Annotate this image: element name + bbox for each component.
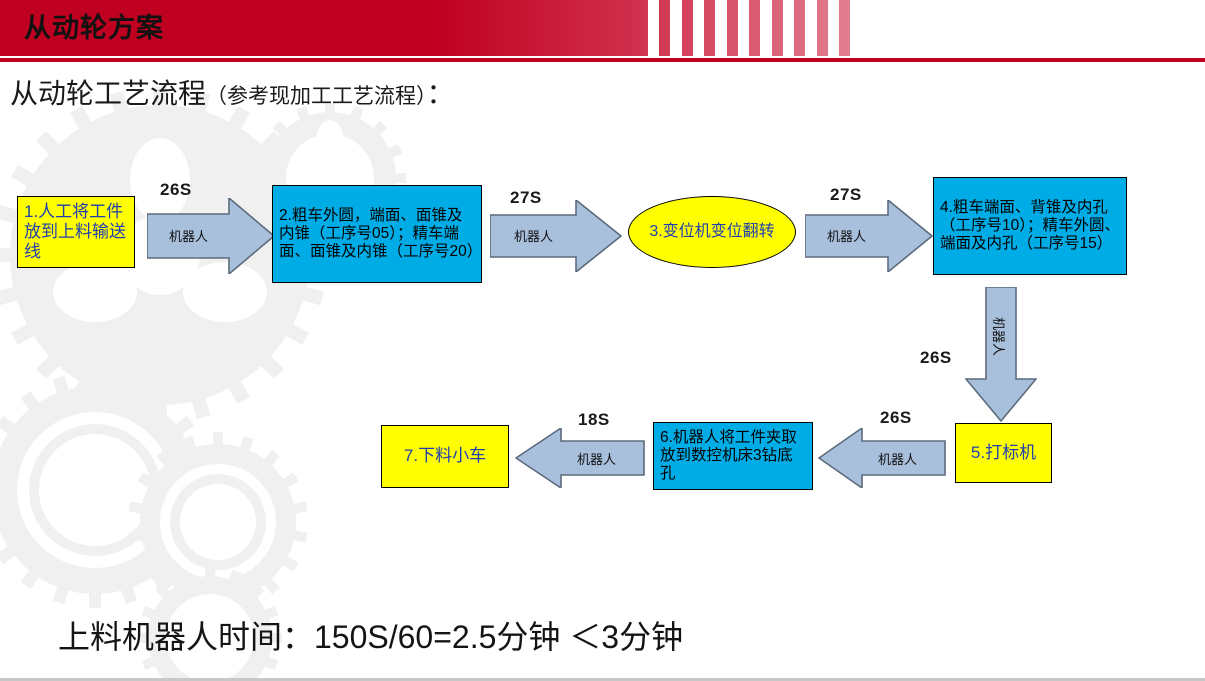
summary-note: 上料机器人时间：150S/60=2.5分钟 ＜3分钟 xyxy=(58,612,683,658)
flow-node-7-label: 7.下料小车 xyxy=(388,446,502,466)
flow-arrow-5-time: 26S xyxy=(880,408,912,428)
header-stripe xyxy=(693,0,704,56)
flow-arrow-2-actor: 机器人 xyxy=(514,226,553,245)
flow-node-3[interactable]: 3.变位机变位翻转 xyxy=(628,196,796,268)
header-stripe xyxy=(738,0,749,56)
section-heading-colon: ： xyxy=(427,78,455,109)
header-stripe-decoration xyxy=(648,0,1205,56)
flow-arrow-4: 机器人 xyxy=(965,287,1037,422)
flow-arrow-6-time: 18S xyxy=(578,410,610,430)
slide-title: 从动轮方案 xyxy=(24,10,164,46)
flow-node-5[interactable]: 5.打标机 xyxy=(955,423,1052,483)
header-stripe xyxy=(783,0,794,56)
header-stripe xyxy=(648,0,659,56)
flow-arrow-3: 机器人 xyxy=(805,200,933,272)
flow-node-1[interactable]: 1.人工将工件放到上料输送线 xyxy=(17,196,135,268)
flow-node-2[interactable]: 2.粗车外圆，端面、面锥及内锥（工序号05）；精车端面、面锥及内锥（工序号20） xyxy=(272,185,482,283)
header-stripe xyxy=(850,0,1205,56)
flow-arrow-3-actor: 机器人 xyxy=(827,226,866,245)
header-underline xyxy=(0,58,1205,62)
flow-node-3-label: 3.变位机变位翻转 xyxy=(649,222,774,241)
flow-arrow-1-time: 26S xyxy=(160,180,192,200)
flow-arrow-6-actor: 机器人 xyxy=(577,449,616,468)
flow-node-7[interactable]: 7.下料小车 xyxy=(381,425,509,488)
section-heading-paren: （参考现加工工艺流程） xyxy=(206,85,427,108)
section-heading-main: 从动轮工艺流程 xyxy=(10,78,206,109)
flow-arrow-6: 机器人 xyxy=(515,428,645,488)
flow-arrow-5-actor: 机器人 xyxy=(878,449,917,468)
flow-node-4[interactable]: 4.粗车端面、背锥及内孔（工序号10）；精车外圆、端面及内孔（工序号15） xyxy=(933,177,1127,275)
flow-arrow-2: 机器人 xyxy=(490,200,622,272)
flow-arrow-2-time: 27S xyxy=(510,188,542,208)
flow-node-4-label: 4.粗车端面、背锥及内孔（工序号10）；精车外圆、端面及内孔（工序号15） xyxy=(940,199,1120,254)
flow-arrow-4-actor: 机器人 xyxy=(990,317,1009,356)
flow-node-6-label: 6.机器人将工件夹取放到数控机床3钻底孔 xyxy=(660,429,806,484)
section-heading: 从动轮工艺流程（参考现加工工艺流程）： xyxy=(10,72,455,112)
flow-arrow-3-time: 27S xyxy=(830,185,862,205)
header-stripe xyxy=(805,0,816,56)
flow-arrow-4-time: 26S xyxy=(920,348,952,368)
header-stripe xyxy=(828,0,839,56)
flow-arrow-5: 机器人 xyxy=(818,428,946,488)
flow-node-2-label: 2.粗车外圆，端面、面锥及内锥（工序号05）；精车端面、面锥及内锥（工序号20） xyxy=(279,207,475,262)
flow-arrow-1: 机器人 xyxy=(147,198,275,274)
flow-node-1-label: 1.人工将工件放到上料输送线 xyxy=(24,202,128,262)
slide-canvas: 从动轮方案 从动轮工艺流程（参考现加工工艺流程）： 1.人工将工件放到上料输送线… xyxy=(0,0,1205,681)
header-stripe xyxy=(715,0,726,56)
header-stripe xyxy=(670,0,681,56)
header-stripe xyxy=(760,0,771,56)
flow-arrow-1-actor: 机器人 xyxy=(169,226,208,245)
flow-node-5-label: 5.打标机 xyxy=(962,443,1045,463)
flow-node-6[interactable]: 6.机器人将工件夹取放到数控机床3钻底孔 xyxy=(653,422,813,490)
